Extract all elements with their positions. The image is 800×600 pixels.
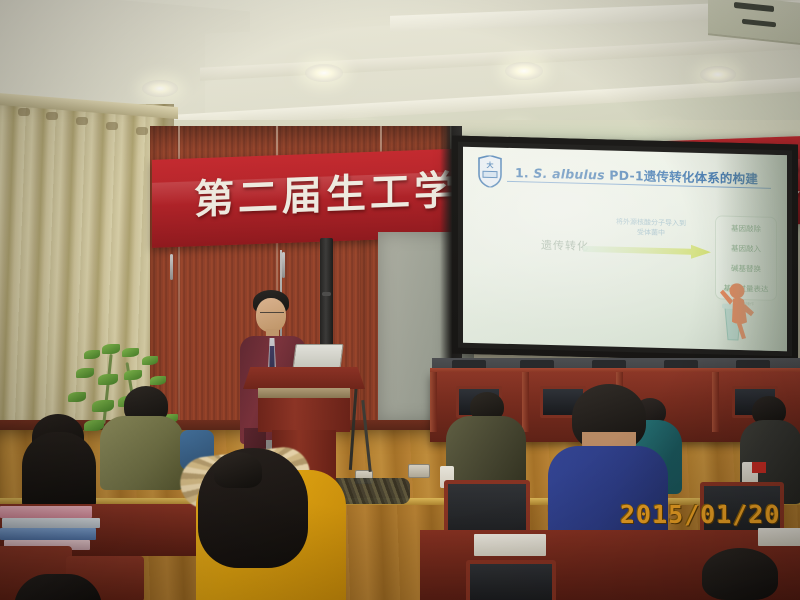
projection-screen: 大 1. S. albulus PD-1遗传转化体系的构建 遗传转化 将外源核酸…: [452, 135, 798, 362]
slide-arrow-caption: 将外源核酸分子导入到 受体菌中: [591, 216, 711, 239]
slide-outcome-item: 基因敲除: [716, 220, 776, 238]
ceiling-downlight: [505, 62, 543, 80]
door-handle[interactable]: [170, 254, 173, 280]
audience-front-right: [688, 548, 798, 600]
curtain-hook: [106, 122, 118, 130]
university-crest-logo: 大: [477, 155, 503, 188]
desk-paper: [758, 528, 800, 546]
plant-leaf: [102, 344, 120, 354]
plant-leaf: [98, 374, 118, 385]
plant-leaf: [142, 356, 158, 365]
projection-screen-surface: 大 1. S. albulus PD-1遗传转化体系的构建 遗传转化 将外源核酸…: [463, 147, 787, 351]
podium-trim-band: [258, 388, 350, 398]
curtain-hook: [18, 108, 30, 116]
laptop-screen: [292, 344, 343, 370]
curtain-hook: [76, 117, 88, 125]
slide-left-label: 遗传转化: [541, 237, 589, 254]
plant-leaf: [84, 350, 100, 359]
slide-arrow-icon: [583, 242, 711, 259]
slide-outcome-item: 碱基替换: [716, 260, 776, 278]
desk-folder-pink: [0, 506, 92, 518]
ceiling-downlight: [700, 66, 736, 83]
desk-folder-white: [2, 518, 100, 528]
plant-leaf: [122, 348, 139, 357]
camera-date-stamp: 2015/01/20: [620, 500, 781, 529]
plant-leaf: [68, 392, 86, 402]
presenter-glasses: [260, 312, 284, 317]
plant-leaf: [76, 368, 94, 378]
desk-folder-blue: [0, 528, 96, 540]
desk-flag: [752, 462, 766, 473]
ceiling-downlight: [305, 64, 343, 82]
slide-arrow-caption-line2: 受体菌中: [591, 226, 711, 239]
svg-text:大: 大: [487, 160, 494, 169]
speaker-column: [320, 238, 333, 346]
desk-divider: [712, 372, 719, 432]
audience-head: [702, 548, 778, 600]
desk-divider: [430, 372, 437, 432]
desk-paper: [474, 534, 546, 556]
audience-head: [214, 452, 262, 488]
conference-room-photo: 第二届生工学科群 发 大 1. S. albulus PD-1遗传转化体系的构建…: [0, 0, 800, 600]
audience-chair[interactable]: [466, 560, 556, 600]
person-at-podium-clipart: [707, 277, 759, 344]
plant-leaf: [124, 370, 142, 380]
audience-body: [100, 416, 184, 490]
plant-leaf: [150, 376, 166, 385]
slide-title-number: 1.: [515, 165, 529, 180]
podium-top: [243, 367, 365, 389]
curtain-hook: [46, 112, 58, 120]
wall-power-outlet[interactable]: [408, 464, 430, 478]
slide-outcome-item: 基因敲入: [716, 240, 776, 258]
curtain-hook: [136, 127, 148, 135]
slide-title-species: S. albulus: [533, 166, 604, 183]
ceiling-downlight: [142, 80, 178, 97]
audience-olive-jacket-left: [100, 386, 184, 486]
door-handle[interactable]: [282, 252, 285, 278]
